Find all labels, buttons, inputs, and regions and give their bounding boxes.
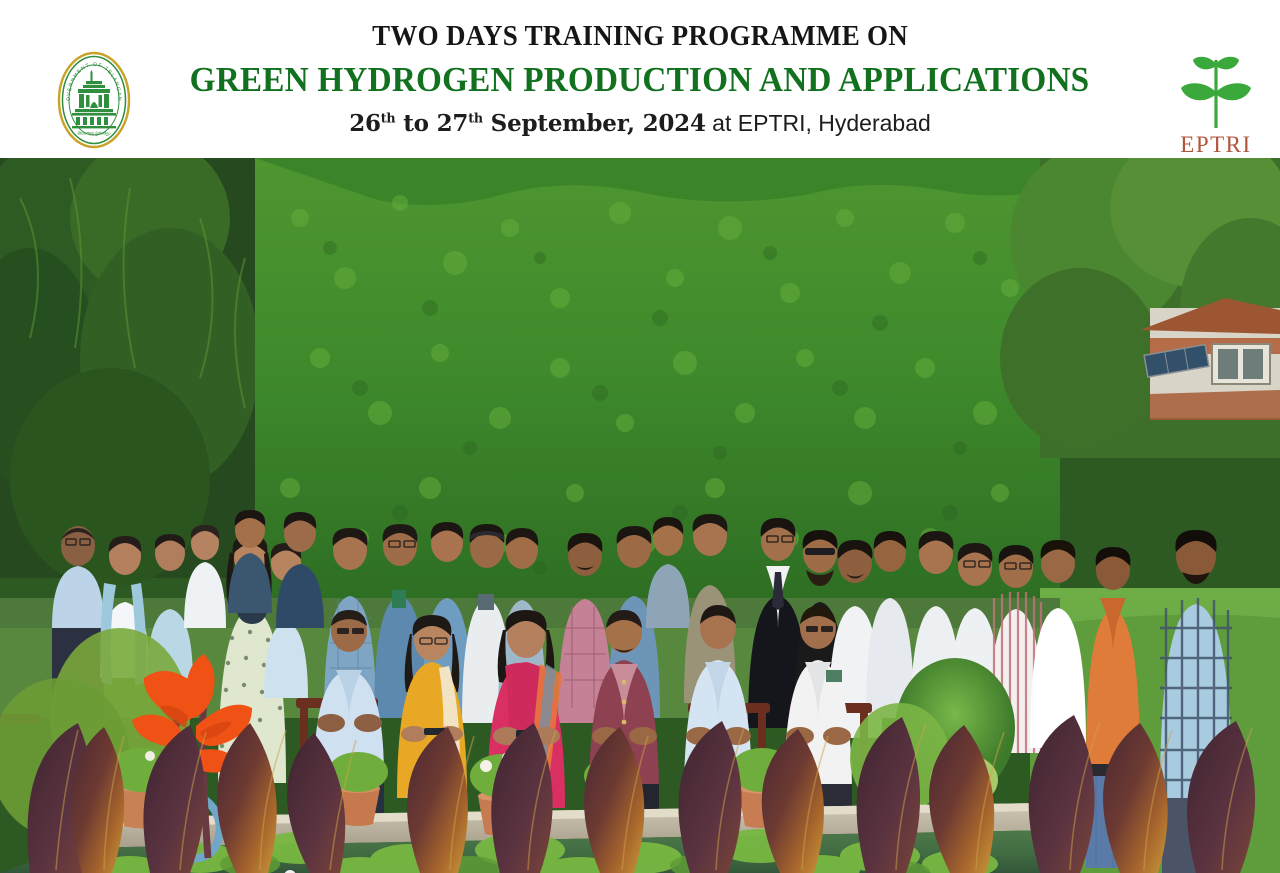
programme-date-venue: 26th to 27th September, 2024 at EPTRI, H… (349, 110, 931, 139)
svg-text:తెలంగాణ ప్రభుత్వం: తెలంగాణ ప్రభుత్వం (77, 131, 111, 137)
government-of-telangana-emblem-icon: GOVERNMENT OF TELANGANA (42, 48, 146, 152)
group-photograph (0, 158, 1280, 873)
eptri-wordmark: EPTRI (1168, 132, 1264, 158)
date-sup-1: th (381, 110, 396, 125)
banner-title-block: TWO DAYS TRAINING PROGRAMME ON GREEN HYD… (160, 0, 1120, 158)
programme-title: GREEN HYDROGEN PRODUCTION AND APPLICATIO… (190, 59, 1090, 100)
programme-subtitle: TWO DAYS TRAINING PROGRAMME ON (372, 20, 908, 52)
banner-header: GOVERNMENT OF TELANGANA (0, 0, 1280, 158)
date-venue: at EPTRI, Hyderabad (706, 110, 931, 136)
date-middle: to 27 (395, 110, 468, 137)
eptri-logo-icon: EPTRI (1168, 48, 1264, 156)
poster-page: GOVERNMENT OF TELANGANA (0, 0, 1280, 873)
date-month-year: September, 2024 (483, 110, 706, 137)
date-sup-2: th (468, 110, 483, 125)
date-start: 26 (349, 110, 381, 137)
